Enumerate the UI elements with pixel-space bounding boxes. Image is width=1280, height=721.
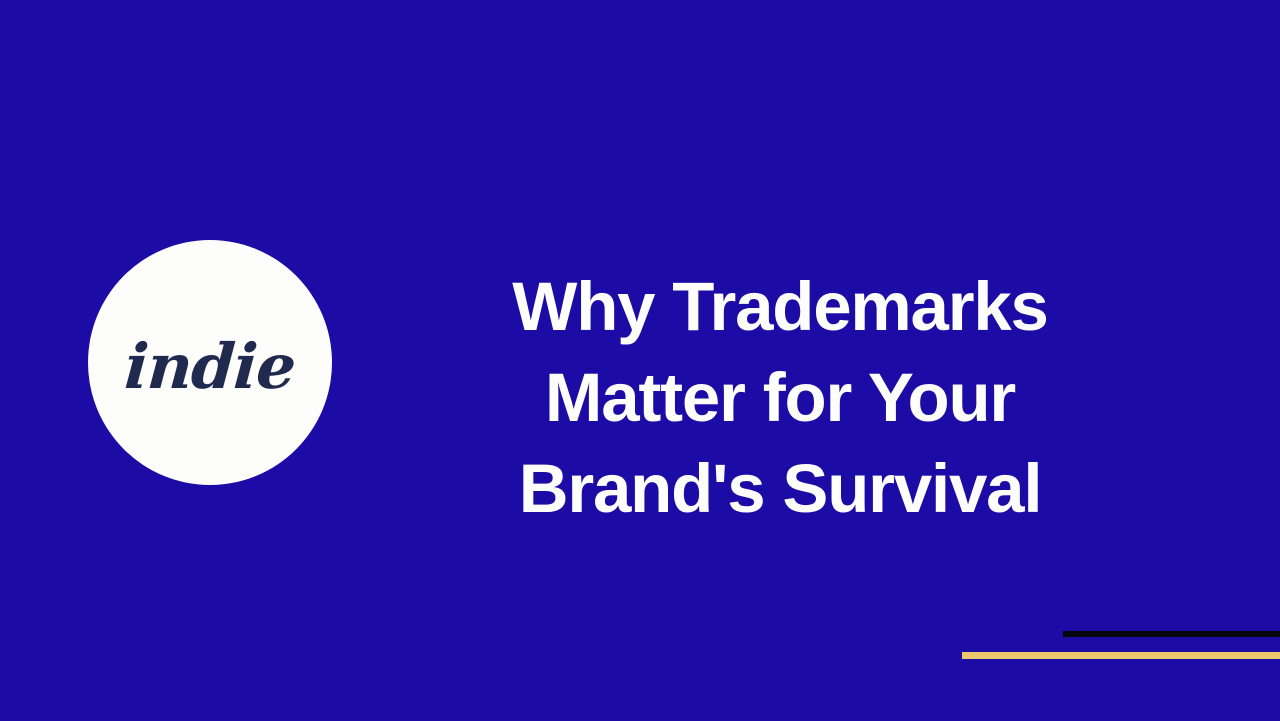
- headline-line-1: Why Trademarks: [400, 261, 1160, 352]
- headline-line-3: Brand's Survival: [400, 443, 1160, 534]
- headline-line-2: Matter for Your: [400, 352, 1160, 443]
- brand-logo-badge: indie: [88, 240, 332, 485]
- accent-rule-gold: [962, 652, 1280, 659]
- brand-wordmark: indie: [123, 336, 297, 398]
- slide-headline: Why Trademarks Matter for Your Brand's S…: [400, 261, 1160, 534]
- accent-rule-dark: [1063, 631, 1280, 637]
- title-slide: indie Why Trademarks Matter for Your Bra…: [0, 0, 1280, 721]
